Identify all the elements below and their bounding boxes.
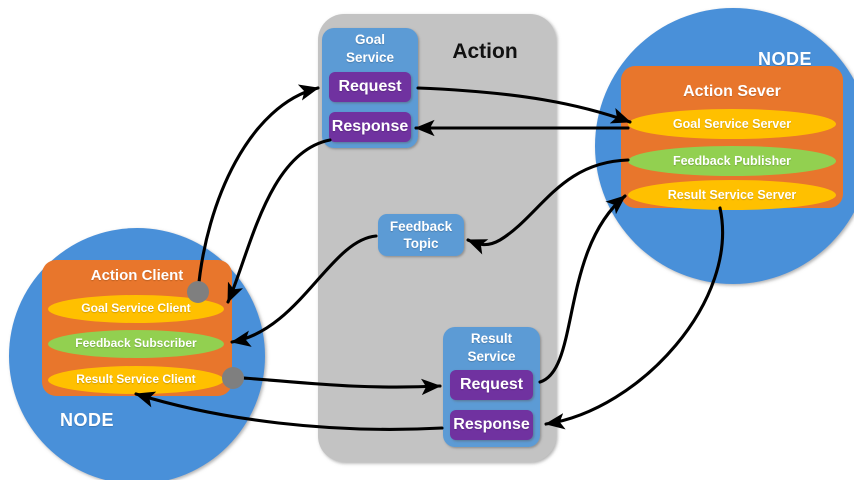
diagram-scene (0, 0, 854, 480)
result-response-box (450, 410, 533, 440)
feedback-subscriber-oval (48, 330, 224, 358)
result-service-server-oval (628, 180, 836, 210)
result-request-box (450, 370, 533, 400)
arrow-response-to-client-goal (228, 140, 330, 302)
diagram-canvas: Action Goal Service Request Response Fee… (0, 0, 854, 480)
result-service-client-oval (48, 366, 224, 394)
goal-request-box (329, 72, 411, 102)
goal-client-connector-dot (187, 281, 209, 303)
goal-response-box (329, 112, 411, 142)
goal-service-server-oval (628, 109, 836, 139)
result-client-connector-dot (222, 367, 244, 389)
feedback-topic-box (378, 214, 464, 256)
feedback-publisher-oval (628, 146, 836, 176)
